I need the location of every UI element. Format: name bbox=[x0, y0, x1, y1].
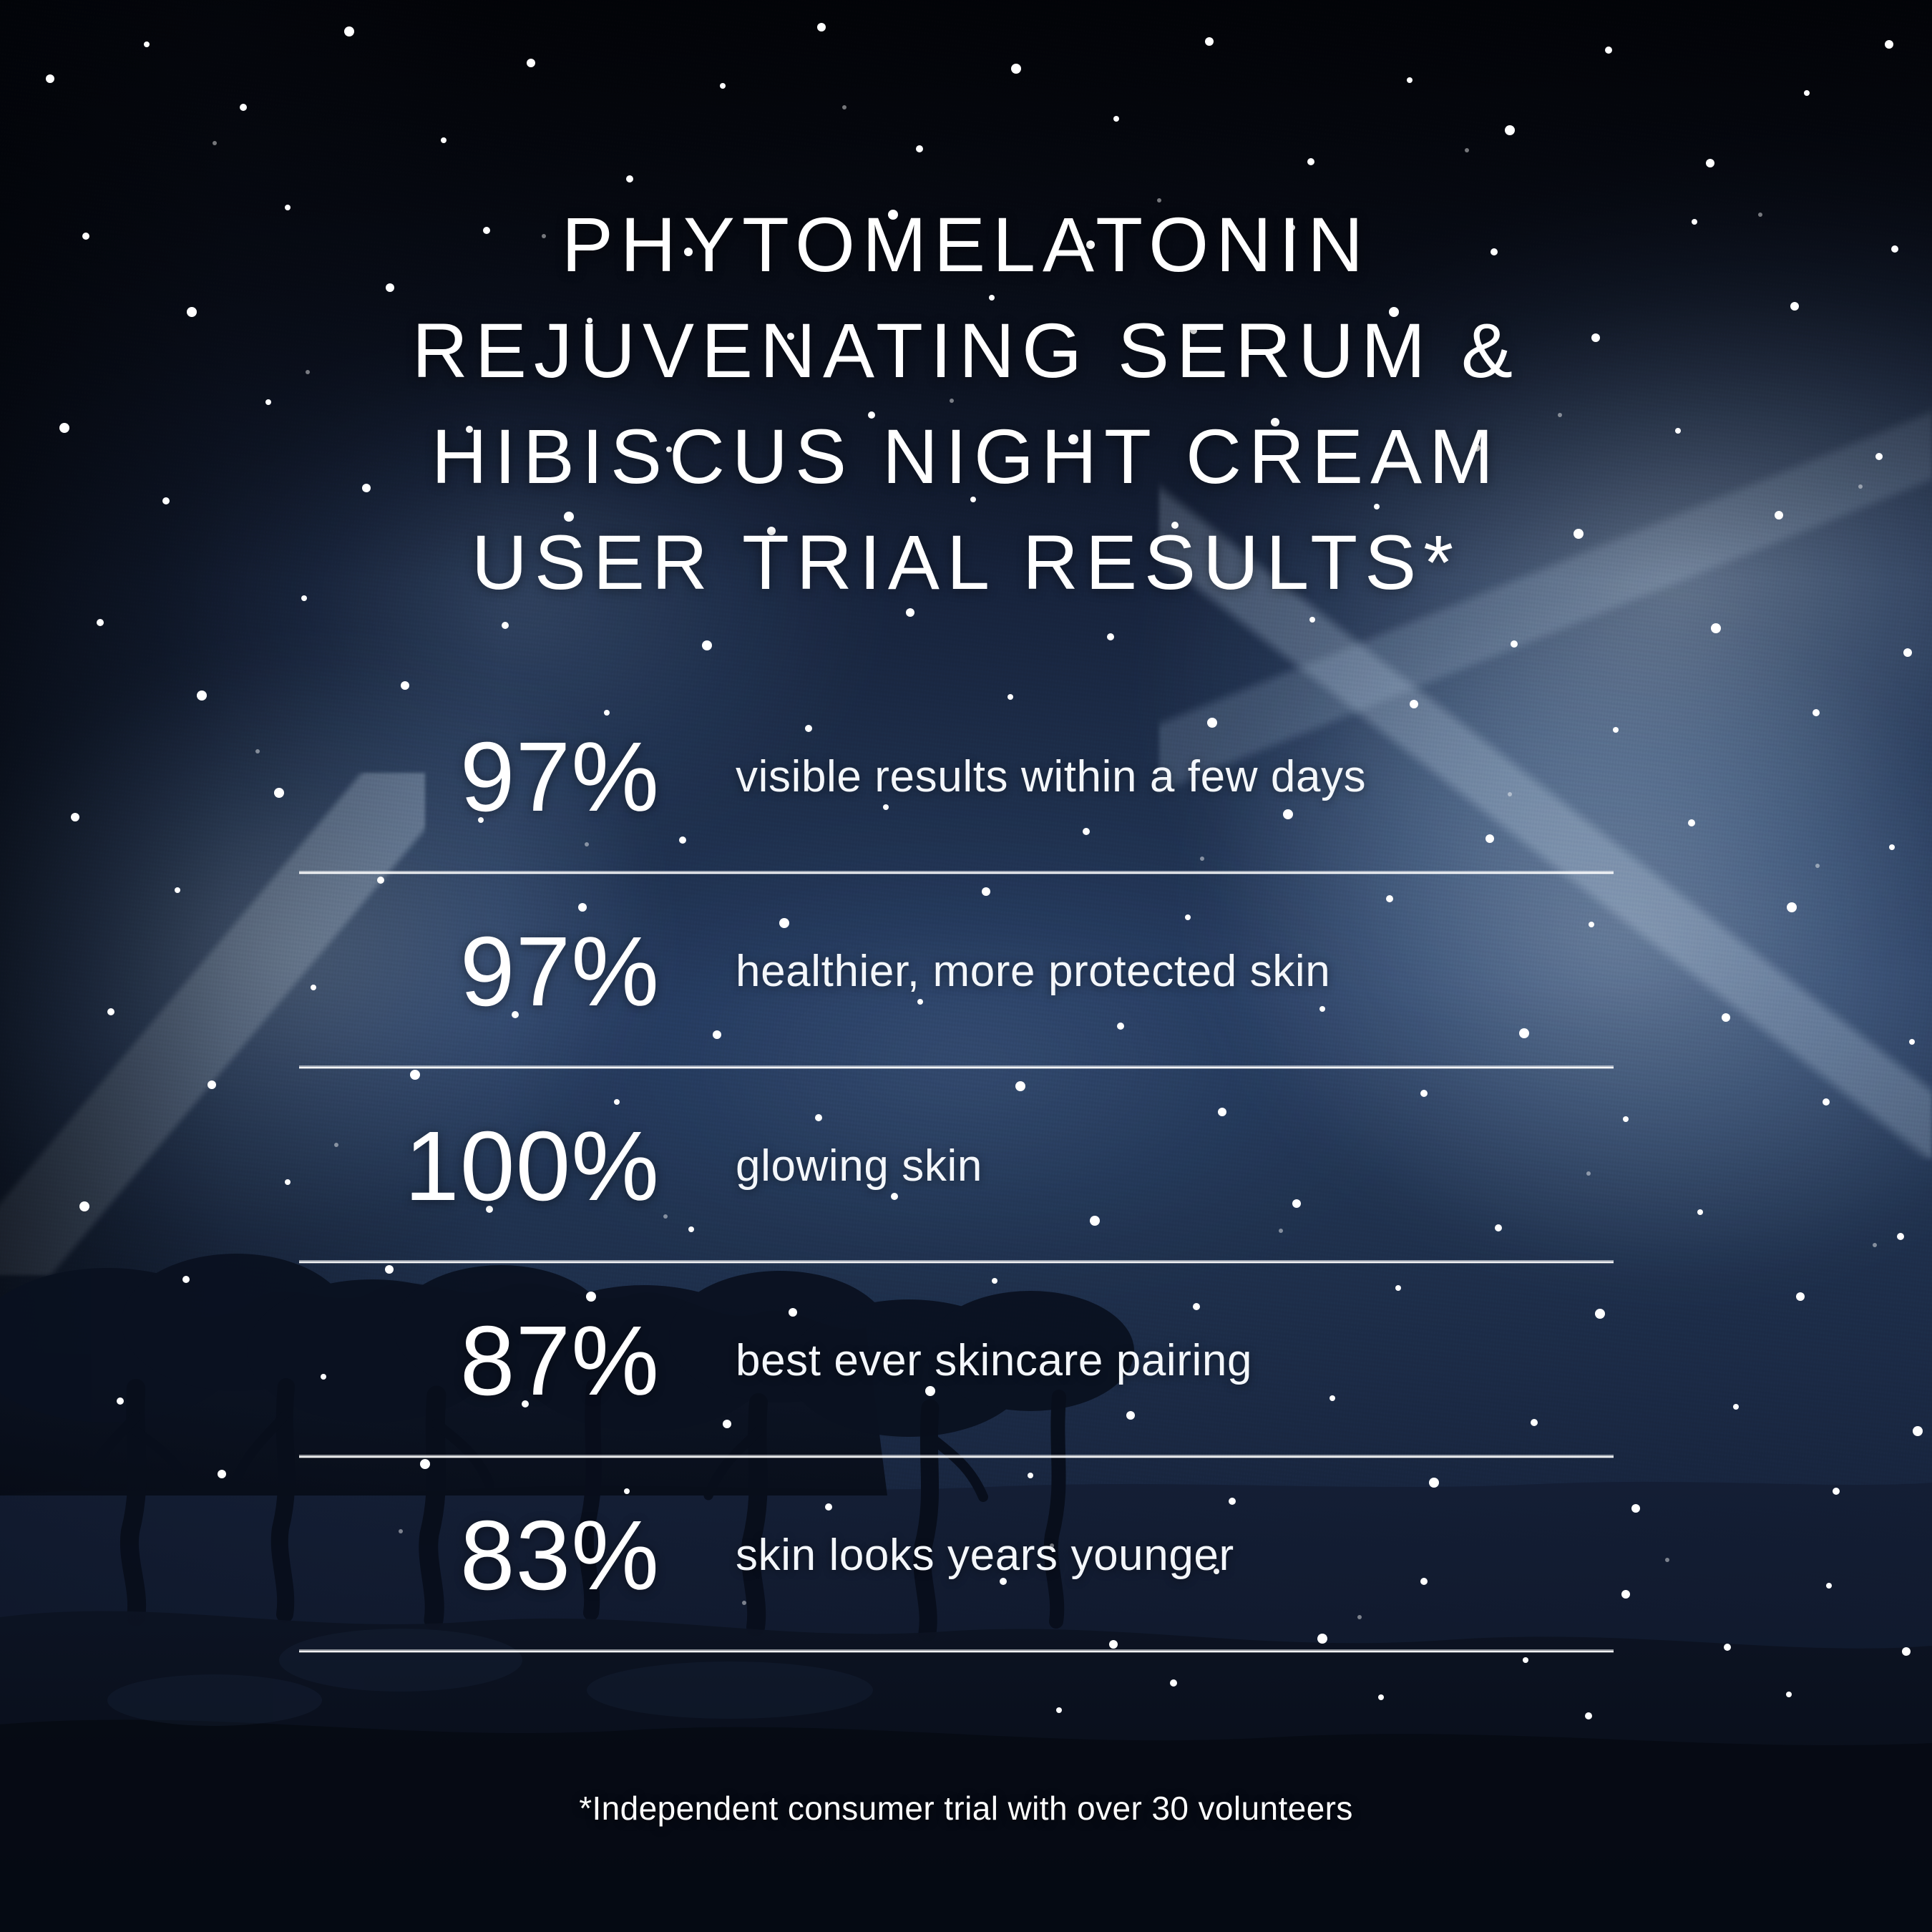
title-line-1: PHYTOMELATONIN bbox=[0, 192, 1932, 298]
result-percent-2: 97% bbox=[299, 922, 665, 1021]
result-percent-4: 87% bbox=[299, 1312, 665, 1410]
title-line-3: HIBISCUS NIGHT CREAM bbox=[0, 404, 1932, 509]
result-percent-3: 100% bbox=[299, 1117, 665, 1216]
results-list: 97% visible results within a few days 97… bbox=[299, 680, 1614, 1653]
poster-canvas: PHYTOMELATONIN REJUVENATING SERUM & HIBI… bbox=[0, 0, 1932, 1932]
page-title: PHYTOMELATONIN REJUVENATING SERUM & HIBI… bbox=[0, 192, 1932, 615]
title-line-2: REJUVENATING SERUM & bbox=[0, 298, 1932, 404]
result-row-2: 97% healthier, more protected skin bbox=[299, 874, 1614, 1069]
result-label-2: healthier, more protected skin bbox=[665, 948, 1614, 996]
result-row-1: 97% visible results within a few days bbox=[299, 680, 1614, 874]
result-label-3: glowing skin bbox=[665, 1143, 1614, 1191]
result-label-4: best ever skincare pairing bbox=[665, 1337, 1614, 1385]
result-row-3: 100% glowing skin bbox=[299, 1069, 1614, 1264]
result-divider-5 bbox=[299, 1649, 1614, 1653]
result-row-4: 87% best ever skincare pairing bbox=[299, 1264, 1614, 1458]
result-percent-1: 97% bbox=[299, 728, 665, 826]
result-label-5: skin looks years younger bbox=[665, 1532, 1614, 1580]
title-line-4: USER TRIAL RESULTS* bbox=[0, 509, 1932, 615]
result-row-5: 83% skin looks years younger bbox=[299, 1458, 1614, 1653]
result-label-1: visible results within a few days bbox=[665, 753, 1614, 801]
content-layer: PHYTOMELATONIN REJUVENATING SERUM & HIBI… bbox=[0, 0, 1932, 1932]
disclaimer-text: *Independent consumer trial with over 30… bbox=[0, 1789, 1932, 1828]
result-percent-5: 83% bbox=[299, 1506, 665, 1605]
